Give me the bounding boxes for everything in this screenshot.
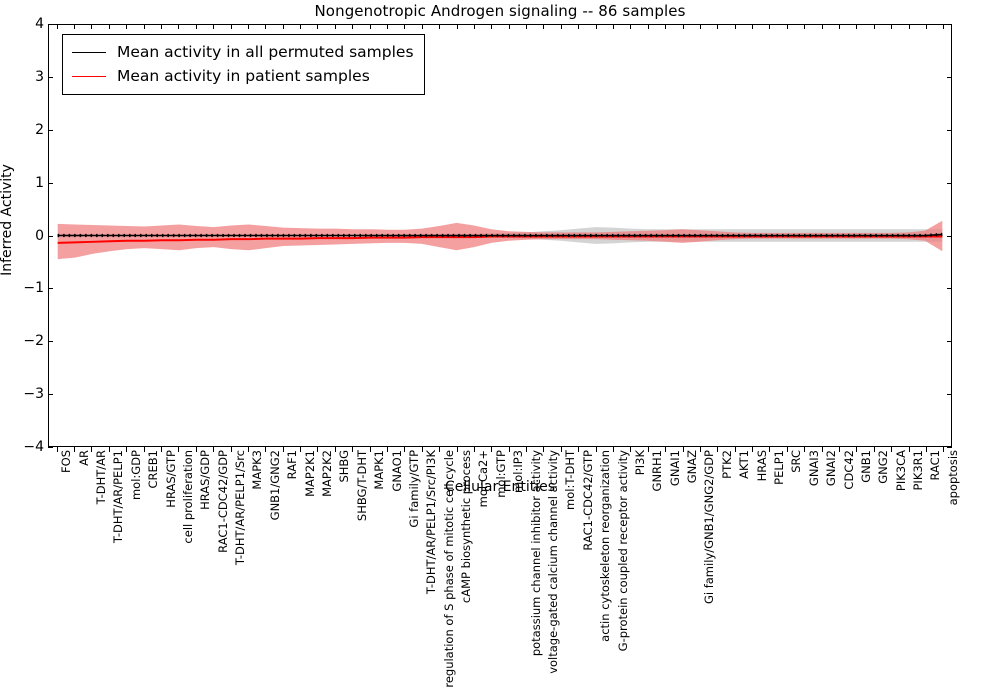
x-tick-mark [613,447,614,452]
x-tick-label: RAF1 [287,450,299,479]
x-tick-mark [300,24,301,29]
figure-canvas: Nongenotropic Androgen signaling -- 86 s… [0,0,1000,500]
x-tick-mark [578,447,579,452]
x-tick-mark [630,24,631,29]
x-tick-mark [439,24,440,29]
x-tick-mark [439,447,440,452]
x-tick-label: T-DHT/AR/PELP1 [113,450,125,543]
x-tick-mark [926,24,927,29]
x-tick-mark [578,24,579,29]
x-tick-mark [57,24,58,29]
x-tick-mark [630,447,631,452]
x-tick-mark [161,447,162,452]
x-tick-mark [856,24,857,29]
legend-label-patient: Mean activity in patient samples [117,67,370,85]
legend-line-swatch-permuted [72,52,106,53]
x-tick-mark [317,24,318,29]
x-tick-mark [370,24,371,29]
legend-item-patient: Mean activity in patient samples [72,64,414,88]
x-tick-mark [683,447,684,452]
x-tick-mark [126,447,127,452]
x-tick-mark [787,447,788,452]
x-tick-label: SRC [791,450,803,473]
x-tick-label: AKT1 [739,450,751,479]
x-tick-mark [735,447,736,452]
legend-line-swatch-patient [72,76,106,77]
x-tick-mark [822,24,823,29]
x-tick-mark [909,447,910,452]
x-tick-mark [891,24,892,29]
x-tick-mark [648,447,649,452]
x-tick-mark [370,447,371,452]
y-tick-mark [48,447,53,448]
x-tick-mark [943,447,944,452]
x-tick-mark [596,447,597,452]
x-tick-mark [196,24,197,29]
x-tick-label: Gi family/GNB1/GNG2/GDP [704,450,716,604]
x-tick-mark [387,447,388,452]
x-tick-label: RAC1-CDC42/GTP [583,450,595,551]
x-tick-mark [509,447,510,452]
x-tick-label: PTK2 [722,450,734,479]
x-tick-mark [57,447,58,452]
x-tick-mark [144,24,145,29]
x-tick-mark [735,24,736,29]
x-tick-label: FOS [61,450,73,473]
x-tick-mark [404,24,405,29]
x-tick-mark [613,24,614,29]
x-tick-mark [596,24,597,29]
x-tick-label: SHBG [339,450,351,483]
x-tick-mark [422,447,423,452]
x-tick-mark [91,24,92,29]
x-tick-mark [283,447,284,452]
x-tick-mark [335,24,336,29]
x-tick-mark [474,24,475,29]
x-tick-mark [457,24,458,29]
x-tick-mark [665,24,666,29]
x-tick-mark [526,24,527,29]
x-tick-label: HRAS [757,450,769,481]
x-tick-mark [126,24,127,29]
legend: Mean activity in all permuted samples Me… [62,34,425,95]
x-tick-mark [839,447,840,452]
x-tick-mark [404,447,405,452]
x-tick-mark [422,24,423,29]
x-tick-mark [265,447,266,452]
x-tick-mark [491,447,492,452]
x-tick-mark [561,447,562,452]
x-tick-mark [91,447,92,452]
x-tick-mark [752,447,753,452]
x-tick-mark [700,24,701,29]
x-tick-mark [491,24,492,29]
x-tick-mark [752,24,753,29]
x-tick-mark [144,447,145,452]
x-tick-label: GNB1 [861,450,873,483]
x-tick-mark [109,24,110,29]
x-tick-mark [213,447,214,452]
x-tick-mark [543,447,544,452]
x-tick-mark [457,447,458,452]
x-tick-mark [74,447,75,452]
y-axis-label: Inferred Activity [0,5,15,435]
legend-label-permuted: Mean activity in all permuted samples [117,43,414,61]
x-tick-mark [248,24,249,29]
legend-item-permuted: Mean activity in all permuted samples [72,40,414,64]
x-tick-mark [787,24,788,29]
x-tick-mark [231,24,232,29]
x-tick-mark [109,447,110,452]
x-tick-mark [804,24,805,29]
x-tick-mark [352,24,353,29]
x-tick-mark [335,447,336,452]
y-tick-mark [947,447,952,448]
x-tick-mark [196,447,197,452]
x-tick-mark [543,24,544,29]
x-tick-mark [178,24,179,29]
x-tick-label: RAC1 [930,450,942,481]
x-tick-label: T-DHT/AR [96,450,108,504]
x-tick-mark [317,447,318,452]
x-tick-mark [161,24,162,29]
x-tick-mark [248,447,249,452]
x-tick-mark [178,447,179,452]
x-tick-mark [683,24,684,29]
x-tick-label: apoptosis [948,450,960,505]
x-tick-label: T-DHT/AR/PELP1/Src [235,450,247,565]
x-tick-mark [717,24,718,29]
x-tick-label: PI3K [635,450,647,475]
x-tick-mark [265,24,266,29]
x-tick-mark [213,24,214,29]
x-tick-mark [891,447,892,452]
x-tick-label: cell proliferation [183,450,195,544]
x-tick-mark [561,24,562,29]
x-tick-mark [283,24,284,29]
x-tick-mark [74,24,75,29]
x-tick-mark [700,447,701,452]
x-tick-label: AR [79,450,91,466]
x-tick-mark [874,447,875,452]
x-tick-mark [769,24,770,29]
x-tick-mark [665,447,666,452]
x-tick-mark [474,447,475,452]
x-tick-mark [300,447,301,452]
x-tick-mark [926,447,927,452]
x-tick-mark [509,24,510,29]
x-tick-mark [769,447,770,452]
x-tick-mark [717,447,718,452]
y-tick-label: −4 [4,439,44,455]
x-tick-label: RAC1-CDC42/GDP [218,450,230,553]
x-tick-mark [648,24,649,29]
x-tick-mark [387,24,388,29]
x-tick-label: cAMP biosynthetic process [461,450,473,603]
x-tick-mark [874,24,875,29]
x-tick-mark [352,447,353,452]
x-tick-mark [856,447,857,452]
x-axis-label: Cellular Entities [0,479,1000,495]
x-tick-mark [822,447,823,452]
x-tick-mark [804,447,805,452]
x-tick-label: T-DHT/AR/PELP1/Src/PI3K [426,450,438,594]
x-tick-mark [909,24,910,29]
x-tick-mark [943,24,944,29]
x-tick-mark [231,447,232,452]
x-tick-mark [526,447,527,452]
x-tick-mark [839,24,840,29]
chart-title: Nongenotropic Androgen signaling -- 86 s… [0,2,1000,20]
